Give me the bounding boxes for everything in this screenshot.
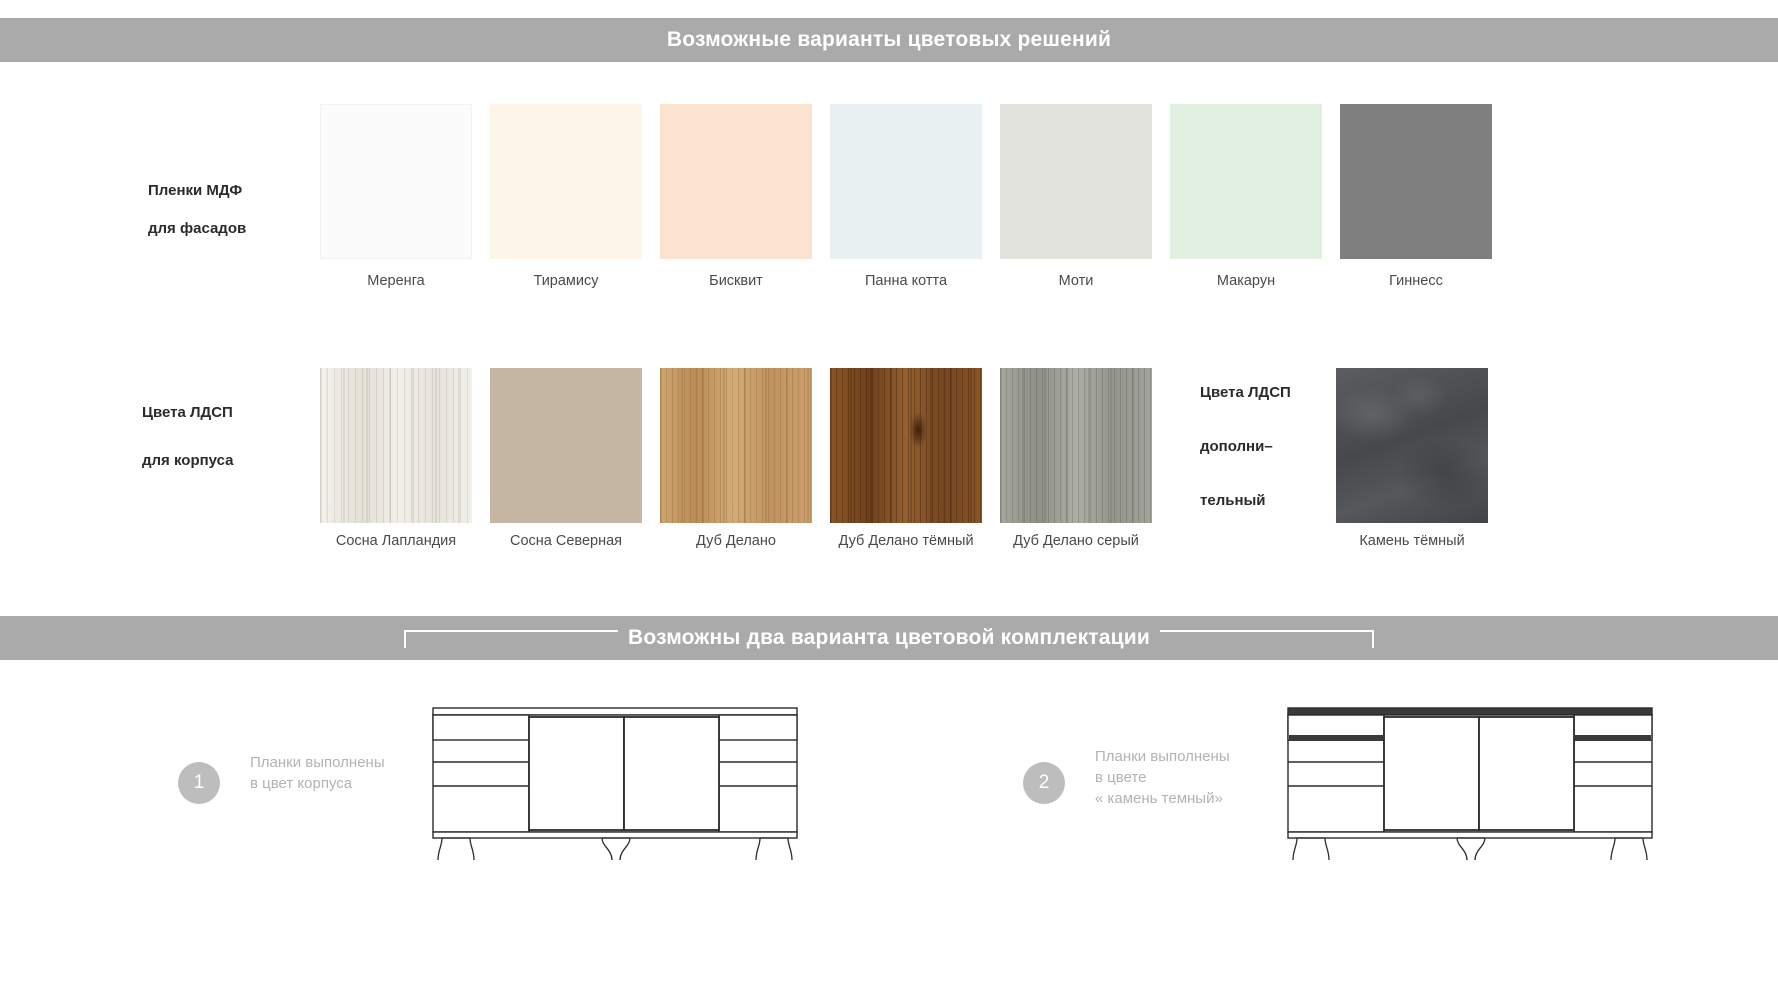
bottom-banner-title: Возможны два варианта цветовой комплекта… [628, 626, 1150, 650]
ldsp-row-label-line1: Цвета ЛДСП [142, 404, 233, 421]
swatch-caption-ginness: Гиннесс [1321, 272, 1511, 291]
swatch-caption-sosna-severnaya: Сосна Северная [471, 532, 661, 551]
swatch-caption-dub-delano-tyomnyy: Дуб Делано тёмный [811, 532, 1001, 551]
swatch-caption-sosna-laplandiya: Сосна Лапландия [301, 532, 491, 551]
swatch-sosna-severnaya[interactable] [490, 368, 642, 523]
swatch-dub-delano-seryy[interactable] [1000, 368, 1152, 523]
swatch-merenga[interactable] [320, 104, 472, 259]
ldsp-extra-label-line2: дополни– [1200, 438, 1273, 455]
swatch-caption-biskvit: Бисквит [641, 272, 831, 291]
option-1-text: Планки выполнены в цвет корпуса [250, 752, 385, 794]
ldsp-extra-label-line1: Цвета ЛДСП [1200, 384, 1291, 401]
swatch-sosna-laplandiya[interactable] [320, 368, 472, 523]
sideboard-drawing-option-2 [1285, 700, 1655, 860]
swatch-kamen-tyomnyy[interactable] [1336, 368, 1488, 523]
ldsp-row-label-line2: для корпуса [142, 452, 234, 469]
swatch-caption-dub-delano-seryy: Дуб Делано серый [981, 532, 1171, 551]
ldsp-extra-label-line3: тельный [1200, 492, 1266, 509]
swatch-caption-dub-delano: Дуб Делано [641, 532, 831, 551]
bottom-banner: Возможны два варианта цветовой комплекта… [0, 616, 1778, 660]
swatch-tiramisu[interactable] [490, 104, 642, 259]
option-2-text: Планки выполнены в цвете « камень темный… [1095, 746, 1230, 809]
swatch-caption-kamen-tyomnyy: Камень тёмный [1317, 532, 1507, 551]
swatch-caption-panna-kotta: Панна котта [811, 272, 1001, 291]
mdf-row-label-line2: для фасадов [148, 220, 246, 237]
swatch-moti[interactable] [1000, 104, 1152, 259]
top-banner: Возможные варианты цветовых решений [0, 18, 1778, 62]
swatch-caption-makarun: Макарун [1151, 272, 1341, 291]
swatch-makarun[interactable] [1170, 104, 1322, 259]
swatch-caption-moti: Моти [981, 272, 1171, 291]
mdf-row-label-line1: Пленки МДФ [148, 182, 242, 199]
option-1-badge: 1 [178, 762, 220, 804]
swatch-dub-delano-tyomnyy[interactable] [830, 368, 982, 523]
swatch-ginness[interactable] [1340, 104, 1492, 259]
bracket-right-decoration [1160, 630, 1374, 648]
swatch-biskvit[interactable] [660, 104, 812, 259]
top-banner-title: Возможные варианты цветовых решений [667, 28, 1111, 52]
option-2-badge: 2 [1023, 762, 1065, 804]
sideboard-drawing-option-1 [430, 700, 800, 860]
swatch-caption-tiramisu: Тирамису [471, 272, 661, 291]
swatch-panna-kotta[interactable] [830, 104, 982, 259]
swatch-dub-delano[interactable] [660, 368, 812, 523]
bracket-left-decoration [404, 630, 618, 648]
swatch-caption-merenga: Меренга [301, 272, 491, 291]
